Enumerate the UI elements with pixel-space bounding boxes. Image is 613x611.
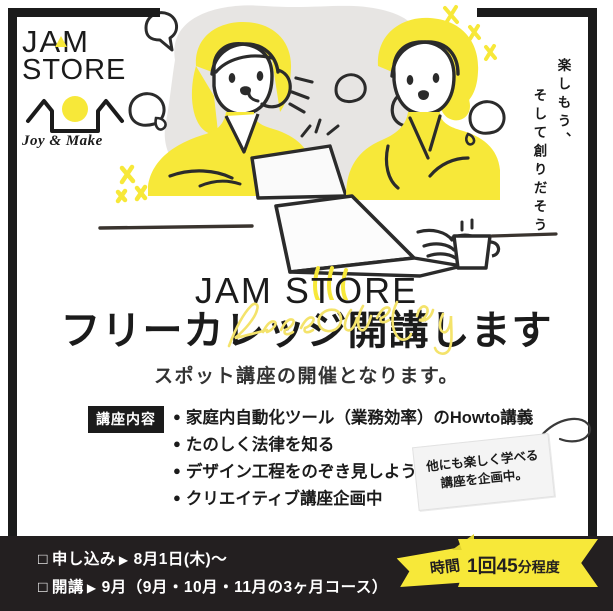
poster-root: JAM STORE Joy & Make 楽しもう、 そして創りだそう JAM … <box>0 0 613 611</box>
frame-border-top-right <box>477 8 597 17</box>
ribbon-tag-label: 時間 <box>429 554 461 579</box>
footer-row: □開講▶9月（9月・10月・11月の3ヶ月コース） <box>38 574 388 602</box>
vertical-copy-line1: 楽しもう、 <box>556 58 570 151</box>
brand-logo: JAM STORE Joy & Make <box>22 24 138 150</box>
footer-schedule-list: □申し込み▶8月1日(木)〜 □開講▶9月（9月・10月・11月の3ヶ月コース） <box>38 546 388 602</box>
ribbon-value-rest: 分程度 <box>518 559 560 575</box>
list-item: ●家庭内自動化ツール（業務効率）のHowto講義 <box>173 404 573 431</box>
footer-row-value: 8月1日(木)〜 <box>134 551 228 568</box>
headline-sub: スポット講座の開催となります。 <box>0 361 613 388</box>
jar-with-dot-icon <box>22 91 138 135</box>
footer-row-value: 9月（9月・10月・11月の3ヶ月コース） <box>102 579 388 596</box>
footer-row-label: 申し込み <box>52 551 116 568</box>
bullet-dot-icon: ● <box>173 436 181 451</box>
ribbon-value-strong: 1回45 <box>467 556 518 577</box>
bullet-dot-icon: ● <box>173 409 181 424</box>
headline-block: JAM STORE フリーカレッジ開講します スポット講座の開催となります。 <box>0 272 613 388</box>
vertical-copy-line2: そして創りだそう <box>532 88 546 236</box>
list-item-label: たのしく法律を知る <box>186 436 335 454</box>
list-item-label: 家庭内自動化ツール（業務効率）のHowto講義 <box>186 409 533 427</box>
ribbon-main: 1回45分程度 <box>458 539 598 587</box>
arrow-right-icon: ▶ <box>119 553 129 567</box>
checkbox-icon: □ <box>38 579 48 596</box>
triangle-accent-icon <box>55 36 67 47</box>
arrow-right-icon: ▶ <box>87 581 97 595</box>
duration-ribbon: 時間 1回45分程度 <box>398 534 598 596</box>
checkbox-icon: □ <box>38 551 48 568</box>
logo-tagline: Joy & Make <box>22 133 138 150</box>
headline-eyebrow: JAM STORE <box>0 272 613 310</box>
headline-main: フリーカレッジ開講します <box>0 308 613 355</box>
footer-row-label: 開講 <box>52 579 84 596</box>
footer-row: □申し込み▶8月1日(木)〜 <box>38 546 388 574</box>
bullet-dot-icon: ● <box>173 463 181 478</box>
frame-border-top-left <box>8 8 160 17</box>
list-item-label: クリエイティブ講座企画中 <box>186 490 383 508</box>
list-item-label: デザイン工程をのぞき見しよう <box>186 463 417 481</box>
course-content-badge: 講座内容 <box>88 406 164 433</box>
bullet-dot-icon: ● <box>173 490 181 505</box>
